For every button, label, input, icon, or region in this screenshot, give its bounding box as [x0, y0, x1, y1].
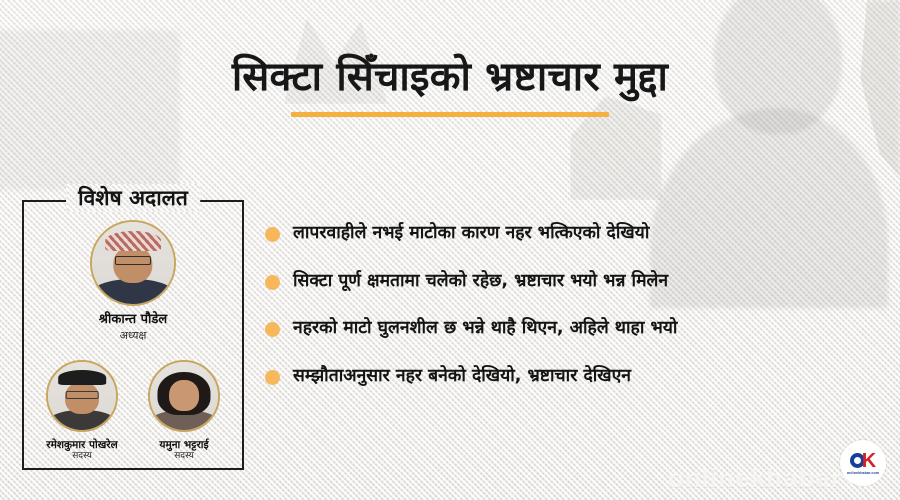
- finding-item: नहरको माटो घुलनशील छ भन्ने थाहै थिएन, अह…: [265, 317, 877, 341]
- bullet-dot-icon: [265, 322, 280, 337]
- special-court-panel: विशेष अदालत श्रीकान्त पौडेल अध्यक्ष रमेश…: [22, 200, 244, 470]
- judge-card-chairman: श्रीकान्त पौडेल अध्यक्ष: [24, 220, 242, 342]
- finding-text: सम्झौताअनुसार नहर बनेको देखियो, भ्रष्टाच…: [293, 365, 631, 389]
- watermark-text: onlinekhabar: [668, 463, 842, 494]
- judge-name-chairman: श्रीकान्त पौडेल: [24, 313, 242, 328]
- finding-item: सम्झौताअनुसार नहर बनेको देखियो, भ्रष्टाच…: [265, 365, 877, 389]
- finding-text: सिक्टा पूर्ण क्षमतामा चलेको रहेछ, भ्रष्ट…: [293, 270, 668, 294]
- judge-role-member-2: सदस्य: [132, 451, 236, 462]
- judge-card-member-2: यमुना भट्टराई सदस्य: [132, 360, 236, 462]
- judge-avatar-chairman: [90, 220, 176, 306]
- finding-item: सिक्टा पूर्ण क्षमतामा चलेको रहेछ, भ्रष्ट…: [265, 270, 877, 294]
- logo-k-letter: K: [862, 452, 876, 470]
- judge-avatar-member-2: [148, 360, 220, 432]
- judge-role-chairman: अध्यक्ष: [24, 329, 242, 342]
- judge-name-member-2: यमुना भट्टराई: [132, 439, 236, 451]
- bullet-dot-icon: [265, 275, 280, 290]
- judge-card-member-1: रमेशकुमार पोखरेल सदस्य: [30, 360, 134, 462]
- special-court-legend: विशेष अदालत: [66, 184, 200, 212]
- logo-wordmark: onlinekhabar.com: [847, 471, 879, 475]
- infographic-canvas: सिक्टा सिँचाइको भ्रष्टाचार मुद्दा विशेष …: [0, 0, 900, 500]
- finding-text: नहरको माटो घुलनशील छ भन्ने थाहै थिएन, अह…: [293, 317, 677, 341]
- findings-list: लापरवाहीले नभई माटोका कारण नहर भत्किएको …: [265, 222, 877, 389]
- finding-text: लापरवाहीले नभई माटोका कारण नहर भत्किएको …: [293, 222, 649, 246]
- logo-marks: K: [850, 452, 876, 470]
- finding-item: लापरवाहीले नभई माटोका कारण नहर भत्किएको …: [265, 222, 877, 246]
- judge-name-member-1: रमेशकुमार पोखरेल: [30, 439, 134, 451]
- bullet-dot-icon: [265, 370, 280, 385]
- page-title: सिक्टा सिँचाइको भ्रष्टाचार मुद्दा: [0, 54, 900, 101]
- title-block: सिक्टा सिँचाइको भ्रष्टाचार मुद्दा: [0, 54, 900, 117]
- onlinekhabar-logo: K onlinekhabar.com: [840, 440, 886, 486]
- bullet-dot-icon: [265, 227, 280, 242]
- judge-avatar-member-1: [46, 360, 118, 432]
- judge-role-member-1: सदस्य: [30, 451, 134, 462]
- title-underline: [291, 112, 609, 117]
